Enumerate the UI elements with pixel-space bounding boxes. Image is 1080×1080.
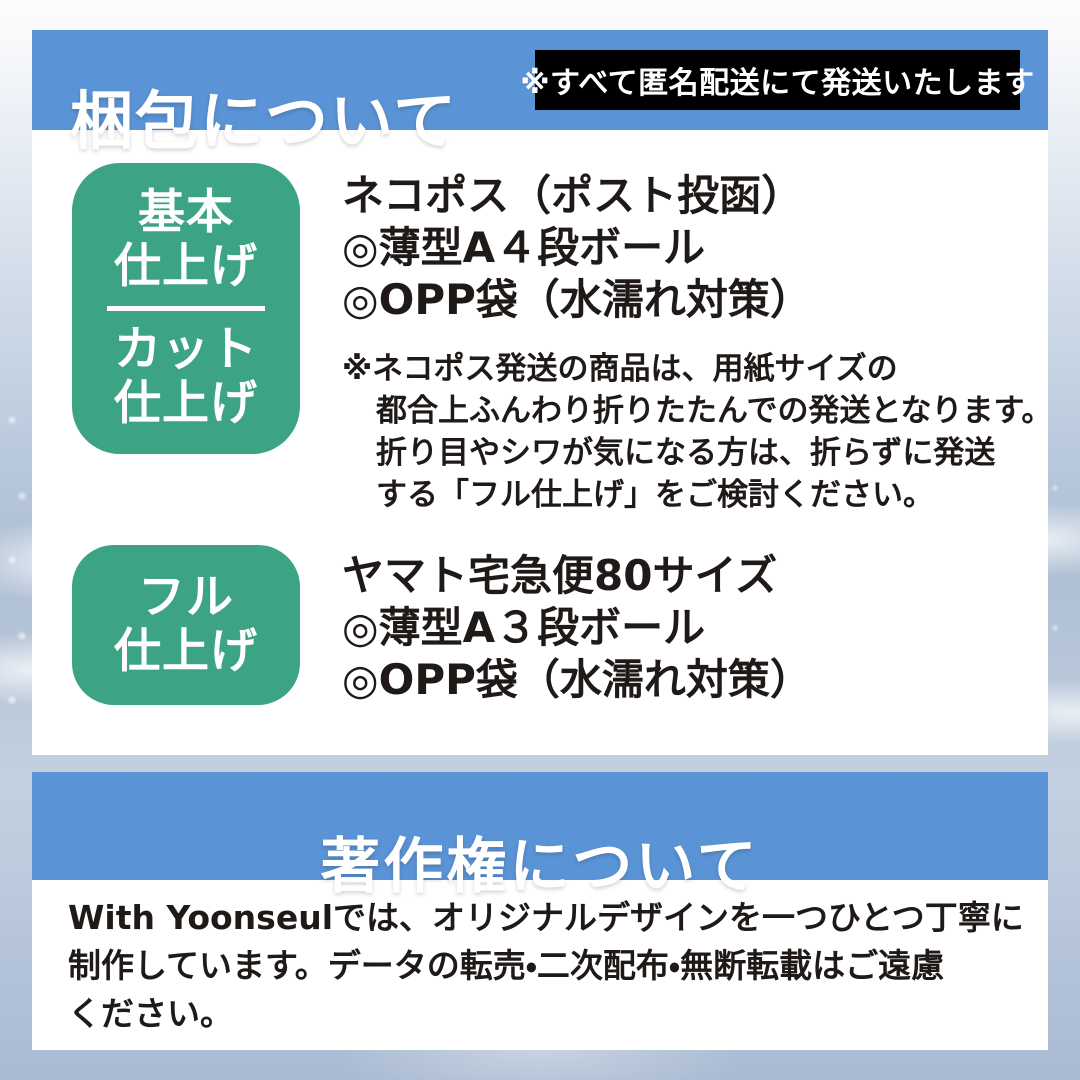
packaging-title: 梱包について bbox=[70, 88, 458, 156]
copyright-section: 著作権について With Yoonseulでは、オリジナルデザインを一つひとつ丁… bbox=[32, 772, 1048, 1050]
packaging-header-band: 梱包について ※すべて匿名配送にて発送いたします bbox=[32, 30, 1048, 130]
nekopos-line2: ◎薄型A４段ボール bbox=[342, 222, 812, 274]
nekopos-note-line4: する「フル仕上げ」をご検討ください。 bbox=[342, 474, 1042, 516]
nekopos-note: ※ネコポス発送の商品は、用紙サイズの 都合上ふんわり折りたたんでの発送となります… bbox=[342, 348, 1042, 516]
copyright-line1: With Yoonseulでは、オリジナルデザインを一つひとつ丁寧に bbox=[68, 894, 1018, 942]
nekopos-details: ネコポス（ポスト投函） ◎薄型A４段ボール ◎OPP袋（水濡れ対策） bbox=[342, 170, 812, 326]
pill-full-line1: フル bbox=[138, 571, 234, 625]
pill-basic-line1: 基本 bbox=[138, 186, 234, 240]
pill-full-line2: 仕上げ bbox=[114, 625, 258, 679]
poster-canvas: 梱包について ※すべて匿名配送にて発送いたします 基本 仕上げ カット 仕上げ … bbox=[0, 0, 1080, 1080]
pill-basic-cut-finish: 基本 仕上げ カット 仕上げ bbox=[72, 163, 300, 454]
pill-basic-line3: カット bbox=[114, 323, 258, 377]
nekopos-note-line1: ※ネコポス発送の商品は、用紙サイズの bbox=[342, 348, 1042, 390]
nekopos-line3: ◎OPP袋（水濡れ対策） bbox=[342, 274, 812, 326]
pill-basic-line2: 仕上げ bbox=[114, 240, 258, 294]
copyright-line2: 制作しています。データの転売・二次配布・無断転載はご遠慮 bbox=[68, 942, 1018, 990]
anonymous-shipping-badge-text: ※すべて匿名配送にて発送いたします bbox=[520, 58, 1034, 102]
nekopos-note-line2: 都合上ふんわり折りたたんでの発送となります。 bbox=[342, 390, 1042, 432]
yamato-line3: ◎OPP袋（水濡れ対策） bbox=[342, 654, 812, 706]
pill-divider bbox=[107, 306, 265, 311]
yamato-line1: ヤマト宅急便80サイズ bbox=[342, 550, 812, 602]
pill-basic-line4: 仕上げ bbox=[114, 377, 258, 431]
yamato-line2: ◎薄型A３段ボール bbox=[342, 602, 812, 654]
yamato-details: ヤマト宅急便80サイズ ◎薄型A３段ボール ◎OPP袋（水濡れ対策） bbox=[342, 550, 812, 706]
copyright-header-band: 著作権について bbox=[32, 772, 1048, 880]
nekopos-note-line3: 折り目やシワが気になる方は、折らずに発送 bbox=[342, 432, 1042, 474]
copyright-body-text: With Yoonseulでは、オリジナルデザインを一つひとつ丁寧に 制作してい… bbox=[68, 894, 1018, 1038]
pill-full-finish: フル 仕上げ bbox=[72, 545, 300, 705]
packaging-section: 梱包について ※すべて匿名配送にて発送いたします 基本 仕上げ カット 仕上げ … bbox=[32, 30, 1048, 755]
nekopos-line1: ネコポス（ポスト投函） bbox=[342, 170, 812, 222]
anonymous-shipping-badge: ※すべて匿名配送にて発送いたします bbox=[535, 50, 1020, 110]
copyright-title: 著作権について bbox=[32, 834, 1048, 900]
copyright-line3: ください。 bbox=[68, 990, 1018, 1038]
